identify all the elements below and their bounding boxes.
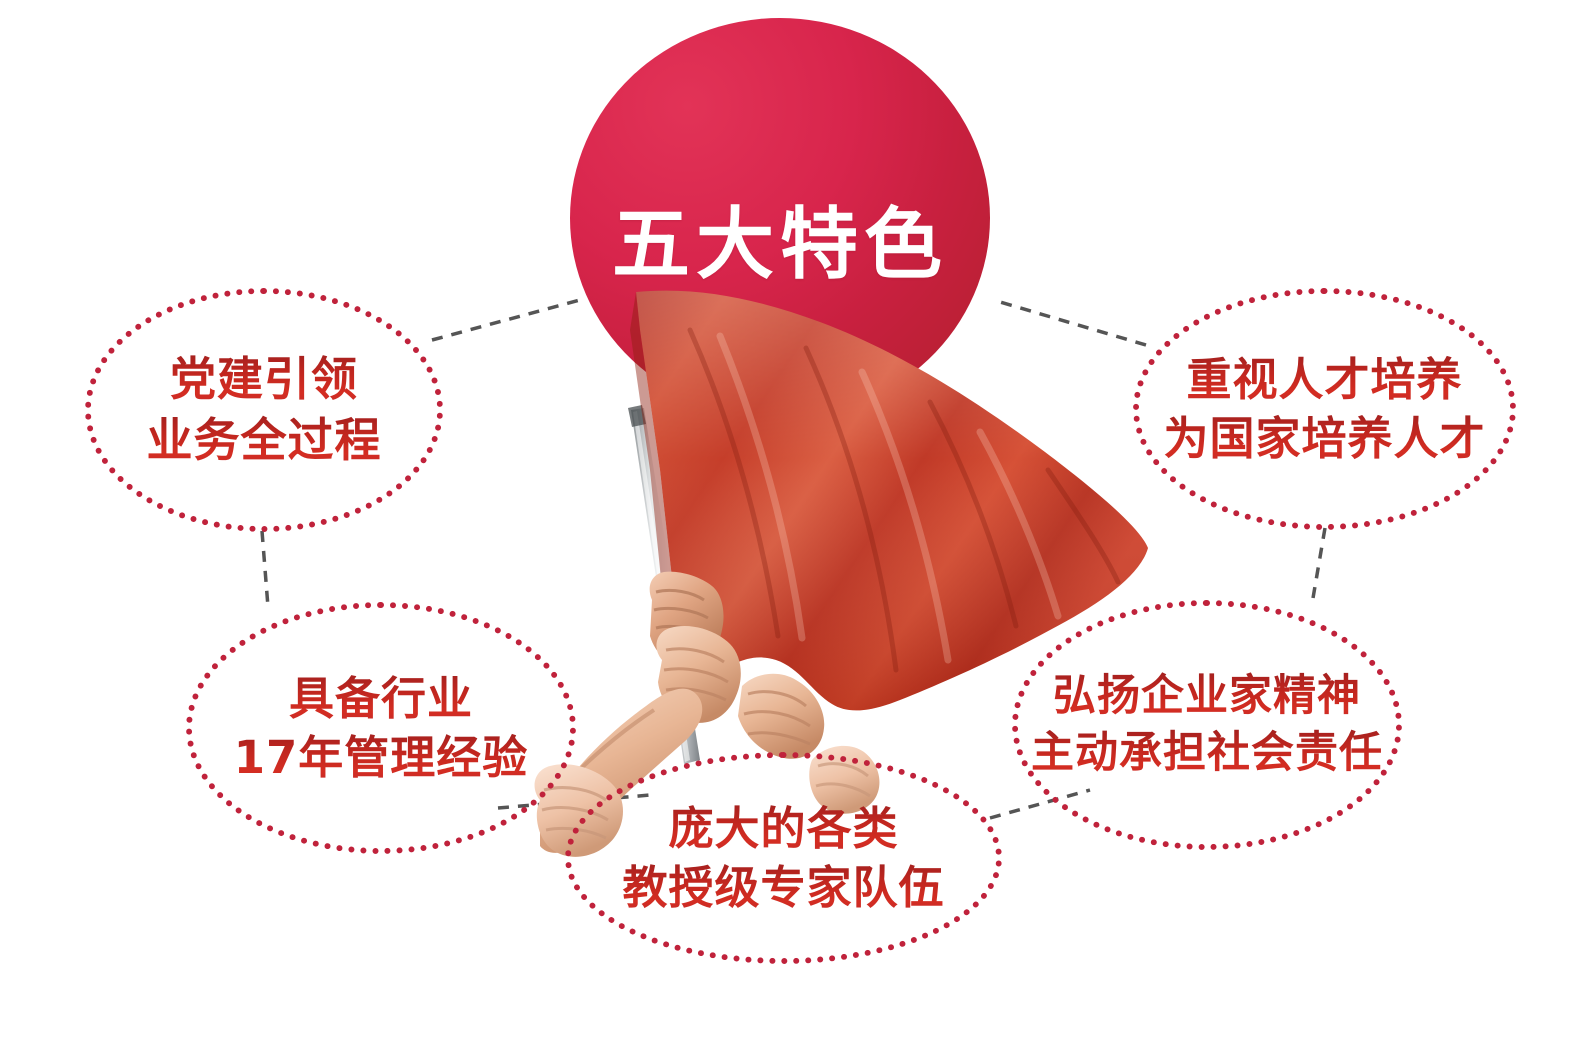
node-experience-line-1: 具备行业	[289, 669, 473, 728]
hub-title: 五大特色	[612, 206, 948, 284]
node-experts-line-1: 庞大的各类	[668, 799, 898, 858]
connector-talent-to-spirit	[1312, 528, 1325, 604]
infographic-canvas: 五大特色	[0, 0, 1594, 1045]
hand-middle	[656, 626, 740, 723]
node-talent-line-2: 为国家培养人才	[1163, 409, 1485, 468]
node-talent-line-1: 重视人才培养	[1186, 350, 1462, 409]
connector-party-to-hub	[432, 300, 580, 340]
node-party-line-2: 业务全过程	[147, 410, 382, 471]
connector-talent-to-hub	[1000, 302, 1146, 345]
node-experts-line-2: 教授级专家队伍	[622, 858, 944, 917]
node-party[interactable]: 党建引领 业务全过程	[85, 288, 443, 532]
node-party-line-1: 党建引领	[170, 349, 358, 410]
node-spirit[interactable]: 弘扬企业家精神 主动承担社会责任	[1012, 600, 1402, 850]
flag-pole	[628, 405, 700, 764]
node-spirit-line-1: 弘扬企业家精神	[1053, 668, 1361, 725]
hand-right	[738, 674, 824, 759]
center-hub-circle: 五大特色	[570, 18, 990, 418]
node-experience[interactable]: 具备行业 17年管理经验	[186, 602, 576, 854]
hand-upper	[650, 572, 724, 667]
node-experts[interactable]: 庞大的各类 教授级专家队伍	[565, 752, 1002, 964]
node-spirit-line-2: 主动承担社会责任	[1031, 725, 1383, 782]
connector-party-to-experience	[262, 531, 268, 607]
node-experience-line-2: 17年管理经验	[234, 728, 529, 787]
node-talent[interactable]: 重视人才培养 为国家培养人才	[1133, 288, 1516, 530]
